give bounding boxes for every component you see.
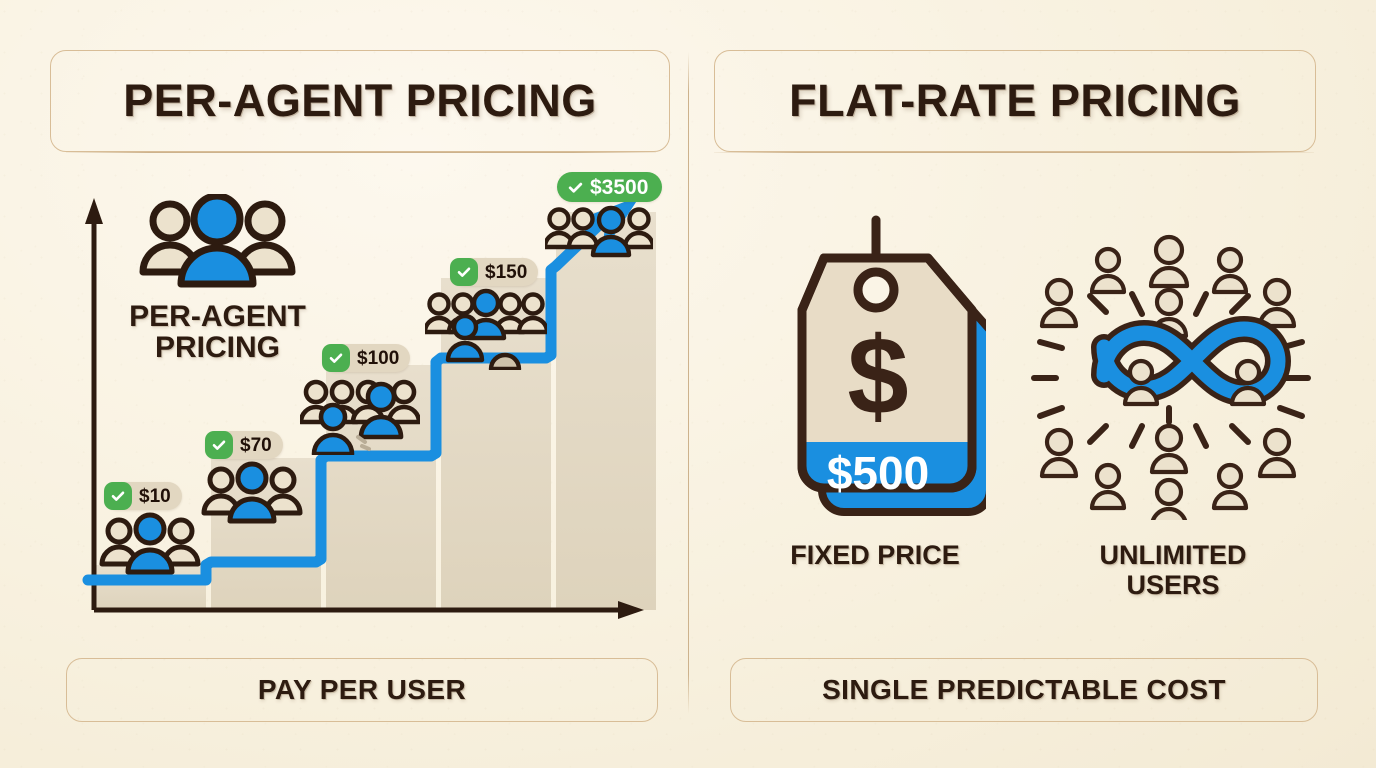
price-badge-3: $100 (322, 344, 410, 372)
per-agent-panel: PER-AGENT PRICING (0, 0, 688, 768)
price-tag-icon: $ $500 (766, 212, 986, 522)
per-agent-title: PER-AGENT PRICING (123, 75, 597, 127)
price-badge-2-amount: $70 (240, 436, 272, 455)
users-group-icon-4 (425, 288, 547, 370)
fixed-price-label: FIXED PRICE (790, 540, 960, 570)
per-agent-footer-box: PAY PER USER (66, 658, 658, 722)
price-badge-2: $70 (205, 431, 283, 459)
unlimited-users-line2: USERS (1038, 570, 1308, 600)
users-group-icon-3 (300, 375, 420, 455)
check-icon (322, 344, 350, 372)
users-group-icon-2 (200, 461, 305, 525)
fixed-price-caption: FIXED PRICE (760, 540, 990, 570)
unlimited-users-caption: UNLIMITED USERS (1038, 540, 1308, 600)
per-agent-chart: PER-AGENT PRICING $10 (0, 150, 688, 650)
check-icon (563, 172, 587, 202)
check-icon (104, 482, 132, 510)
dollar-symbol: $ (847, 315, 908, 438)
flat-rate-panel: FLAT-RATE PRICING $ $500 (688, 0, 1376, 768)
price-badge-5-amount: $3500 (590, 177, 648, 198)
per-agent-header-box: PER-AGENT PRICING (50, 50, 670, 152)
users-group-icon-5 (545, 205, 653, 259)
price-badge-4-amount: $150 (485, 263, 527, 282)
tag-amount-text: $500 (827, 447, 929, 499)
flat-rate-title: FLAT-RATE PRICING (789, 75, 1241, 127)
price-badge-1: $10 (104, 482, 182, 510)
infinity-users-icon (1026, 230, 1316, 520)
users-group-icon-1 (98, 512, 203, 576)
check-icon (450, 258, 478, 286)
price-badge-5: $3500 (557, 172, 662, 202)
flat-rate-footer-box: SINGLE PREDICTABLE COST (730, 658, 1318, 722)
check-icon (205, 431, 233, 459)
users-group-icon-hero (135, 194, 300, 290)
right-header-rule (714, 152, 1314, 153)
flat-rate-header-box: FLAT-RATE PRICING (714, 50, 1316, 152)
price-badge-4: $150 (450, 258, 538, 286)
chart-annotation-line1: PER-AGENT (60, 302, 375, 333)
price-badge-1-amount: $10 (139, 487, 171, 506)
infographic-canvas: PER-AGENT PRICING (0, 0, 1376, 768)
price-badge-3-amount: $100 (357, 349, 399, 368)
flat-rate-footer-label: SINGLE PREDICTABLE COST (822, 674, 1226, 706)
unlimited-users-line1: UNLIMITED (1038, 540, 1308, 570)
per-agent-footer-label: PAY PER USER (258, 674, 466, 706)
